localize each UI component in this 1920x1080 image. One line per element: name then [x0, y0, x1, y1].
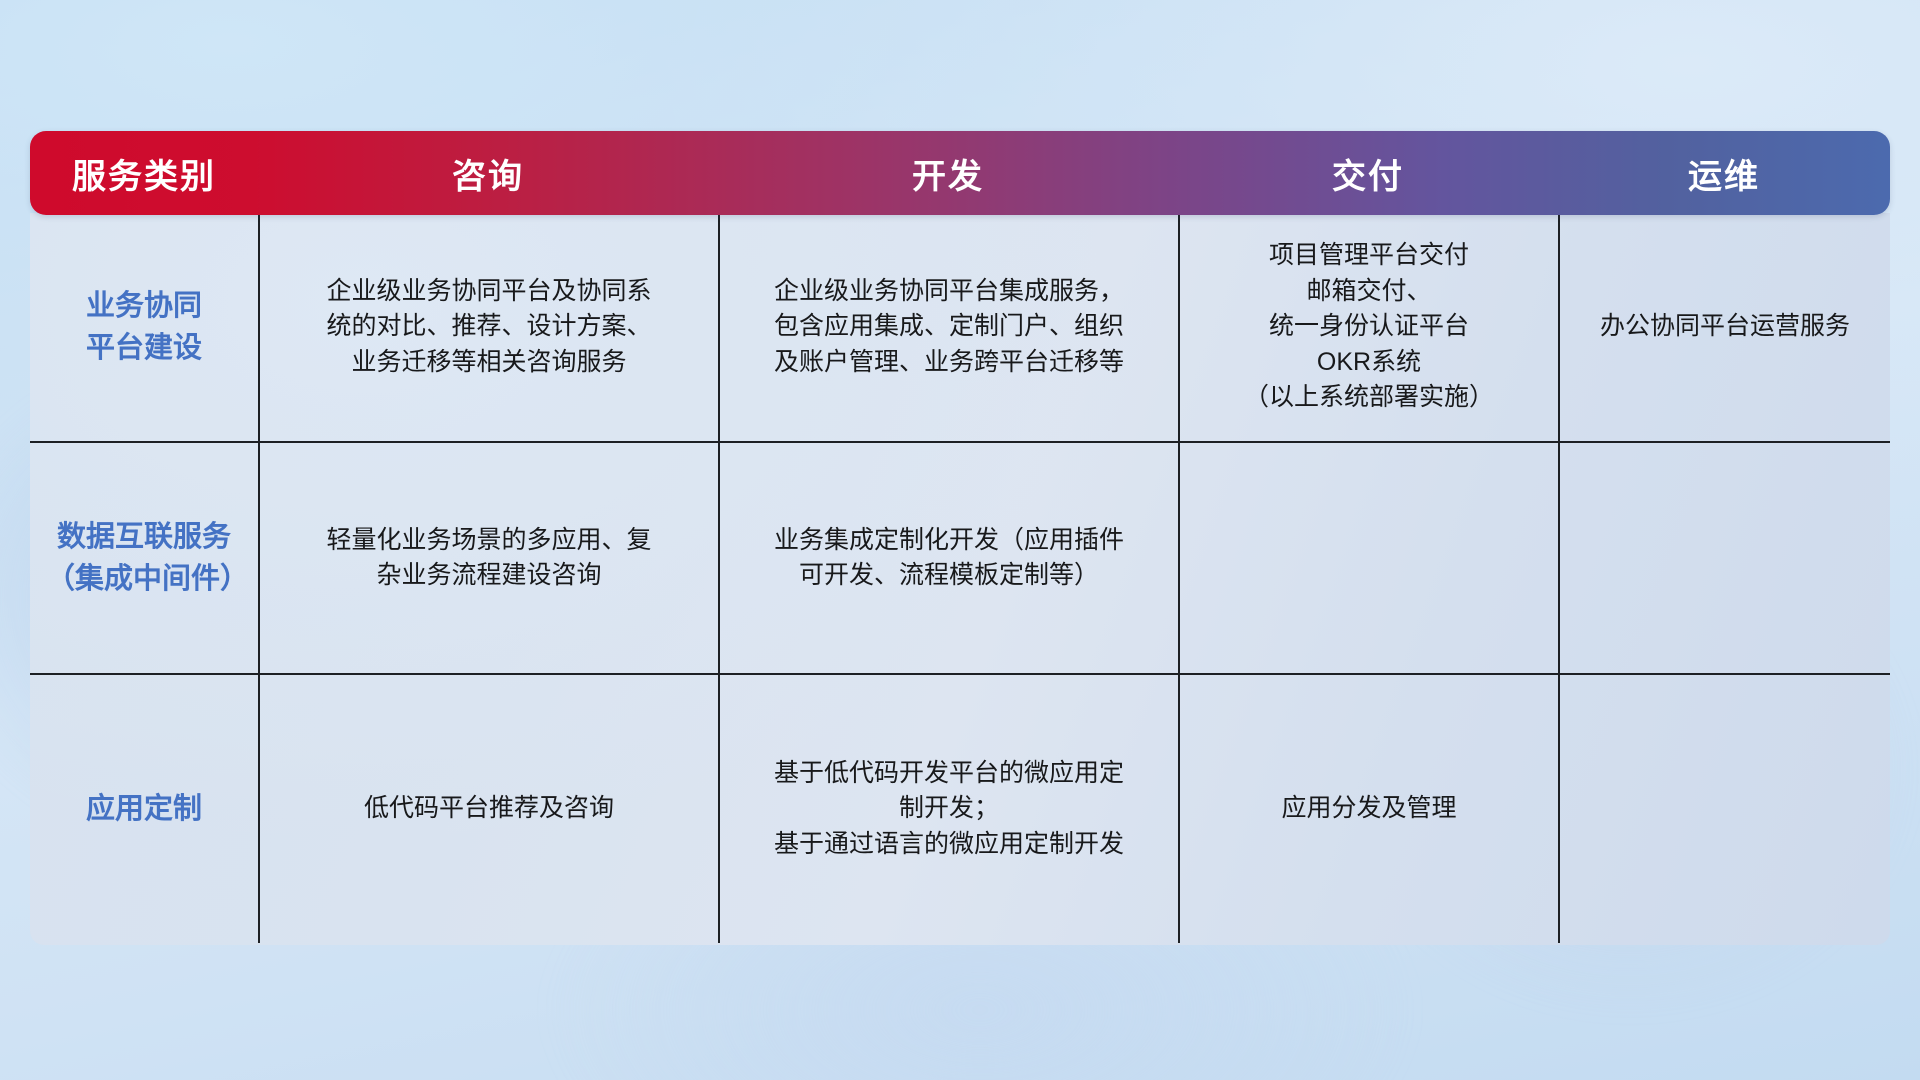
row-category-label: 业务协同 平台建设 — [30, 213, 258, 441]
cell-delivery: 应用分发及管理 — [1178, 675, 1558, 943]
header-label-service-category: 服务类别 — [72, 149, 216, 198]
table-body: 业务协同 平台建设 企业级业务协同平台及协同系 统的对比、推荐、设计方案、 业务… — [30, 213, 1890, 945]
cell-delivery — [1178, 443, 1558, 673]
table-row: 应用定制 低代码平台推荐及咨询 基于低代码开发平台的微应用定 制开发； 基于通过… — [30, 673, 1890, 943]
header-label-operations: 运维 — [1688, 149, 1760, 198]
header-cell-delivery: 交付 — [1178, 131, 1558, 215]
cell-consulting: 轻量化业务场景的多应用、复 杂业务流程建设咨询 — [258, 443, 718, 673]
cell-development: 企业级业务协同平台集成服务， 包含应用集成、定制门户、组织 及账户管理、业务跨平… — [718, 213, 1178, 441]
cell-operations — [1558, 443, 1890, 673]
cell-consulting: 低代码平台推荐及咨询 — [258, 675, 718, 943]
row-category-label: 数据互联服务 （集成中间件） — [30, 443, 258, 673]
table-header-row: 服务类别 咨询 开发 交付 运维 — [30, 131, 1890, 215]
cell-development: 基于低代码开发平台的微应用定 制开发； 基于通过语言的微应用定制开发 — [718, 675, 1178, 943]
header-label-development: 开发 — [912, 149, 984, 198]
cell-development: 业务集成定制化开发（应用插件 可开发、流程模板定制等） — [718, 443, 1178, 673]
service-matrix-table: 服务类别 咨询 开发 交付 运维 业务协同 平台建设 企业级业务协同平台及协同系… — [30, 131, 1890, 945]
cell-operations: 办公协同平台运营服务 — [1558, 213, 1890, 441]
cell-consulting: 企业级业务协同平台及协同系 统的对比、推荐、设计方案、 业务迁移等相关咨询服务 — [258, 213, 718, 441]
header-cell-consulting: 咨询 — [258, 131, 718, 215]
cell-delivery: 项目管理平台交付 邮箱交付、 统一身份认证平台 OKR系统 （以上系统部署实施） — [1178, 213, 1558, 441]
header-cell-operations: 运维 — [1558, 131, 1890, 215]
table-row: 数据互联服务 （集成中间件） 轻量化业务场景的多应用、复 杂业务流程建设咨询 业… — [30, 441, 1890, 673]
header-cell-development: 开发 — [718, 131, 1178, 215]
header-label-delivery: 交付 — [1332, 149, 1404, 198]
table-row: 业务协同 平台建设 企业级业务协同平台及协同系 统的对比、推荐、设计方案、 业务… — [30, 213, 1890, 441]
header-label-consulting: 咨询 — [452, 149, 524, 198]
header-cell-service-category: 服务类别 — [30, 131, 258, 215]
row-category-label: 应用定制 — [30, 675, 258, 943]
cell-operations — [1558, 675, 1890, 943]
